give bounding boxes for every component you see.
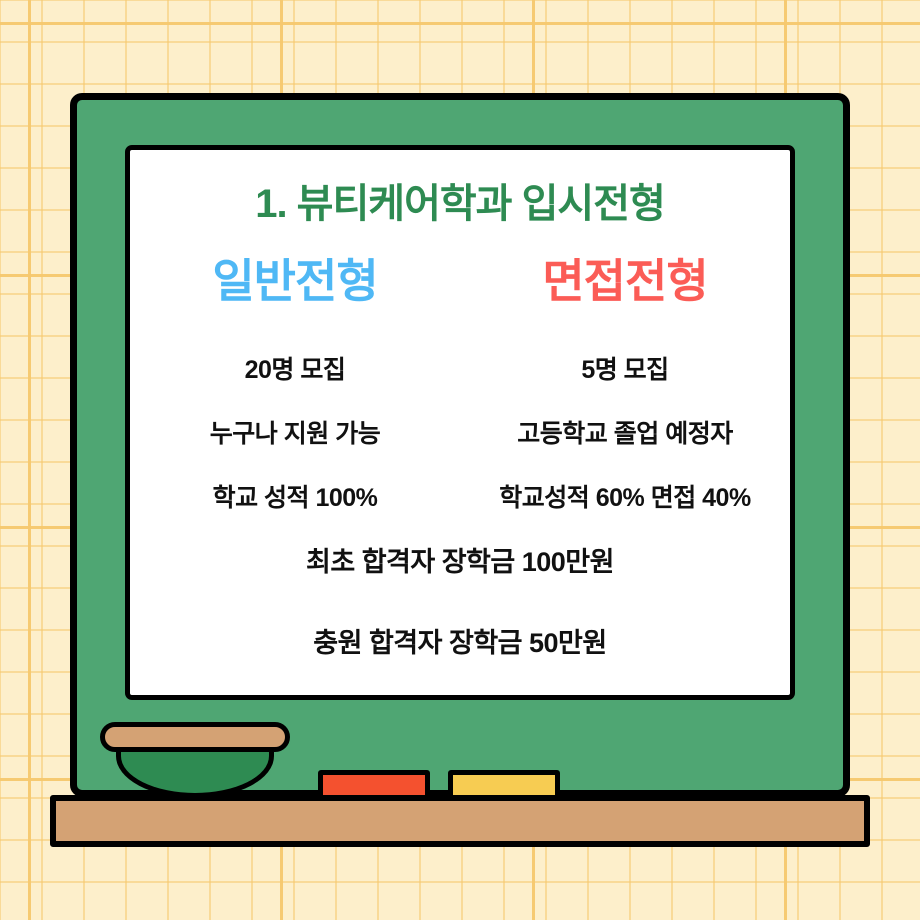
scholarship-first-pass: 최초 합격자 장학금 100만원: [130, 540, 790, 579]
page-title: 1. 뷰티케어학과 입시전형: [130, 182, 790, 226]
column-heading-general: 일반전형: [130, 255, 460, 308]
cell-interview-eligibility: 고등학교 졸업 예정자: [460, 414, 790, 450]
chalkboard-white-card: 1. 뷰티케어학과 입시전형 일반전형 면접전형 20명 모집 5명 모집 누구…: [125, 145, 795, 700]
table-row: 학교 성적 100% 학교성적 60% 면접 40%: [130, 478, 790, 514]
scholarship-additional-pass: 충원 합격자 장학금 50만원: [130, 621, 790, 660]
scholarship-notes: 최초 합격자 장학금 100만원 충원 합격자 장학금 50만원: [130, 540, 790, 702]
chalkboard: 1. 뷰티케어학과 입시전형 일반전형 면접전형 20명 모집 5명 모집 누구…: [70, 93, 850, 797]
column-headings: 일반전형 면접전형: [130, 255, 790, 308]
poster-canvas: 1. 뷰티케어학과 입시전형 일반전형 면접전형 20명 모집 5명 모집 누구…: [0, 0, 920, 920]
cell-general-quota: 20명 모집: [130, 350, 460, 386]
eraser-icon: [100, 722, 290, 798]
eraser-top: [100, 722, 290, 752]
cell-interview-quota: 5명 모집: [460, 350, 790, 386]
column-heading-interview: 면접전형: [460, 255, 790, 308]
cell-interview-criteria: 학교성적 60% 면접 40%: [460, 478, 790, 514]
table-row: 누구나 지원 가능 고등학교 졸업 예정자: [130, 414, 790, 450]
table-row: 20명 모집 5명 모집: [130, 350, 790, 386]
card-content: 1. 뷰티케어학과 입시전형 일반전형 면접전형 20명 모집 5명 모집 누구…: [130, 150, 790, 695]
chalk-tray: [50, 795, 870, 847]
cell-general-criteria: 학교 성적 100%: [130, 478, 460, 514]
cell-general-eligibility: 누구나 지원 가능: [130, 414, 460, 450]
comparison-rows: 20명 모집 5명 모집 누구나 지원 가능 고등학교 졸업 예정자 학교 성적…: [130, 350, 790, 542]
